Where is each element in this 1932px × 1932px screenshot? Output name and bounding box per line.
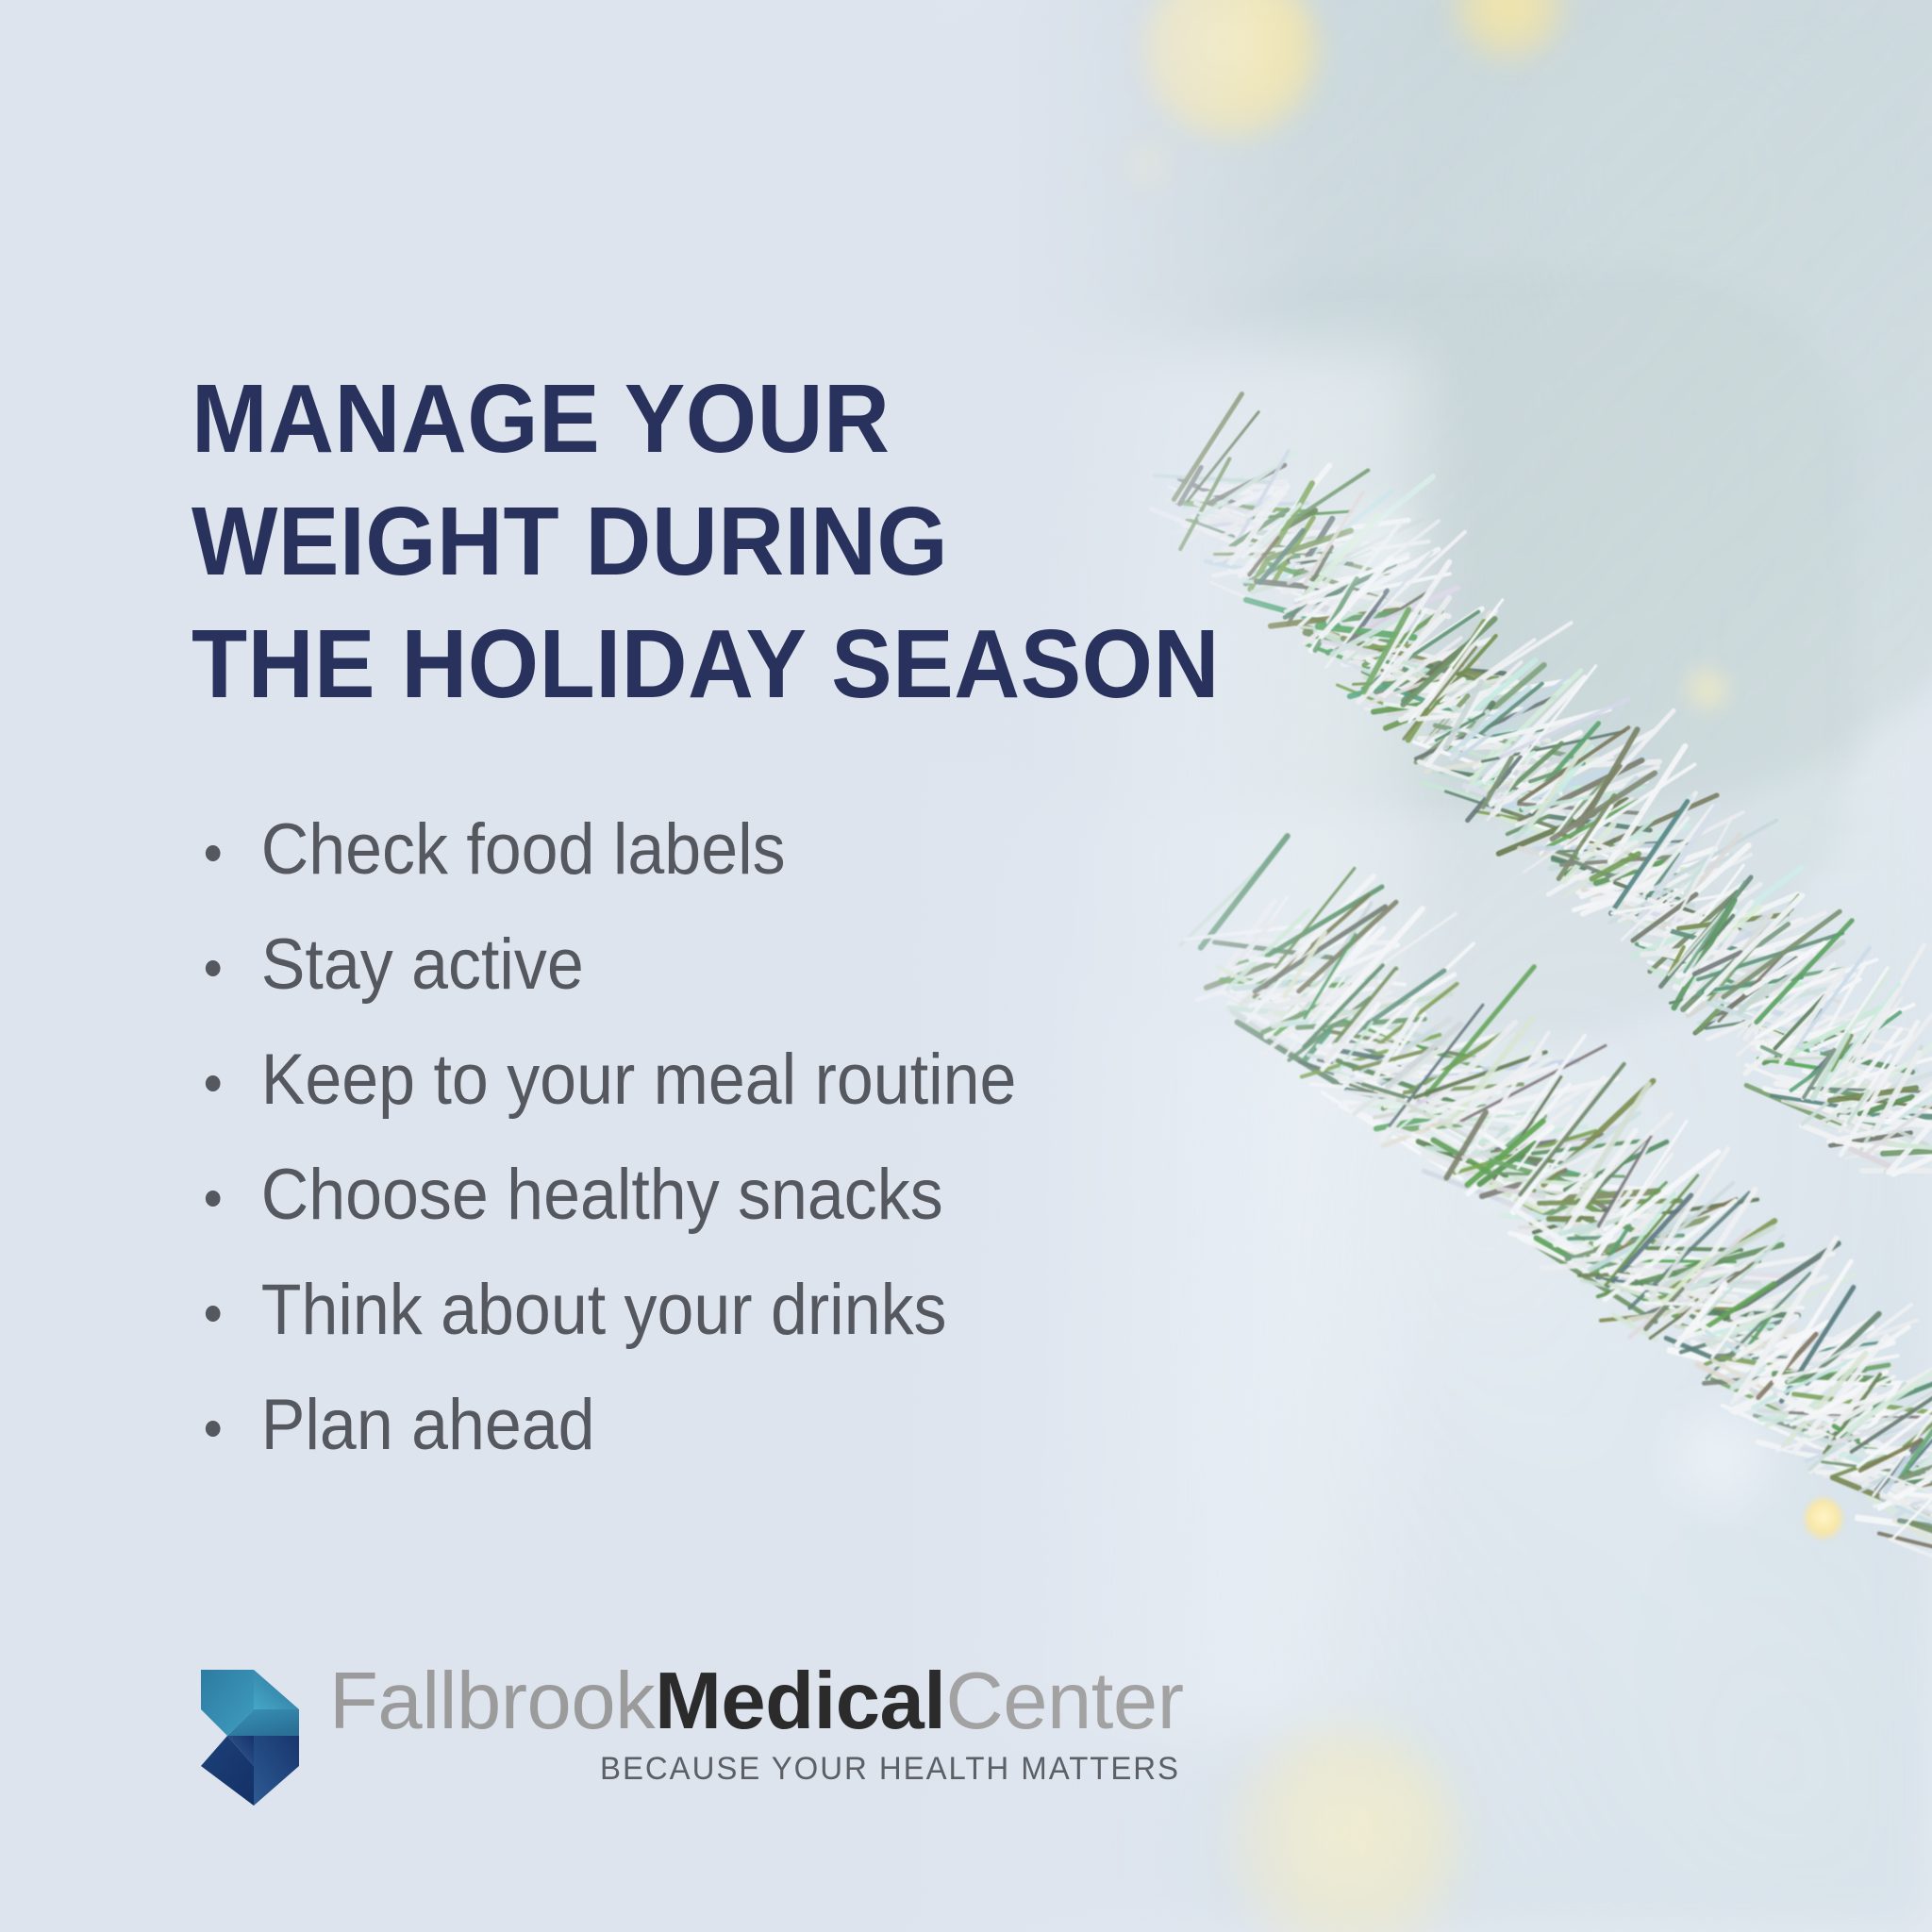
logo-wordmark: FallbrookMedicalCenter xyxy=(329,1658,1184,1745)
page-title: MANAGE YOUR WEIGHT DURING THE HOLIDAY SE… xyxy=(192,358,1238,725)
tips-list: Check food labels Stay active Keep to yo… xyxy=(193,792,1344,1483)
bullet-dot-icon xyxy=(206,1421,221,1437)
headline-line-2: WEIGHT DURING xyxy=(192,480,1238,603)
list-item-label: Plan ahead xyxy=(261,1385,595,1465)
holiday-weight-poster: MANAGE YOUR WEIGHT DURING THE HOLIDAY SE… xyxy=(0,0,1932,1932)
list-item: Check food labels xyxy=(193,792,1252,908)
list-item-label: Check food labels xyxy=(261,809,786,890)
fallbrook-chevron-mark-icon xyxy=(195,1662,307,1813)
logo-text-block: FallbrookMedicalCenter BECAUSE YOUR HEAL… xyxy=(329,1658,1184,1788)
list-item-label: Think about your drinks xyxy=(261,1270,947,1350)
bullet-dot-icon xyxy=(206,1306,221,1322)
headline-line-1: MANAGE YOUR xyxy=(192,358,1238,480)
logo-word-fallbrook: Fallbrook xyxy=(329,1657,655,1746)
list-item-label: Keep to your meal routine xyxy=(261,1040,1017,1120)
logo-word-center: Center xyxy=(945,1657,1183,1746)
list-item: Stay active xyxy=(193,908,1252,1023)
logo-word-medical: Medical xyxy=(655,1657,945,1746)
bullet-dot-icon xyxy=(206,1075,221,1091)
list-item: Choose healthy snacks xyxy=(193,1138,1252,1253)
fallbrook-medical-center-logo: FallbrookMedicalCenter BECAUSE YOUR HEAL… xyxy=(195,1658,1184,1813)
list-item: Plan ahead xyxy=(193,1368,1252,1483)
bullet-dot-icon xyxy=(206,960,221,976)
list-item-label: Choose healthy snacks xyxy=(261,1155,943,1235)
list-item: Keep to your meal routine xyxy=(193,1023,1252,1138)
list-item: Think about your drinks xyxy=(193,1253,1252,1368)
bullet-dot-icon xyxy=(206,845,221,861)
poster-content: MANAGE YOUR WEIGHT DURING THE HOLIDAY SE… xyxy=(0,0,1932,1932)
headline-line-3: THE HOLIDAY SEASON xyxy=(192,603,1238,725)
list-item-label: Stay active xyxy=(261,924,584,1005)
bullet-dot-icon xyxy=(206,1191,221,1207)
logo-tagline: BECAUSE YOUR HEALTH MATTERS xyxy=(600,1751,1180,1788)
